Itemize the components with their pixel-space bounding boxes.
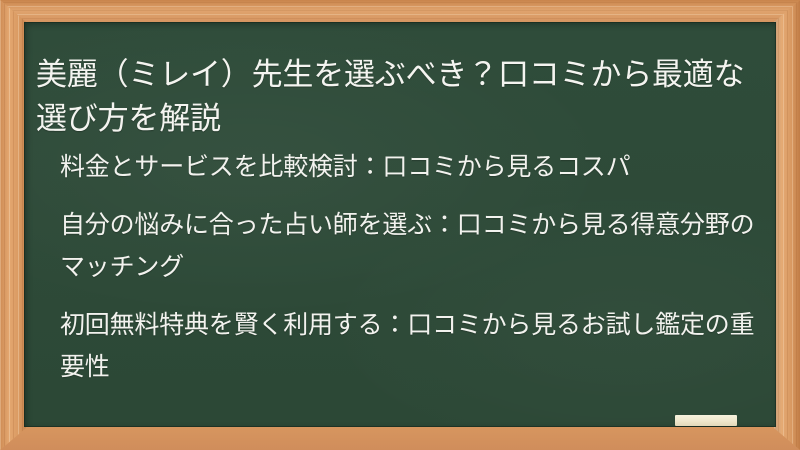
list-item: 自分の悩みに合った占い師を選ぶ：口コミから見る得意分野のマッチング bbox=[60, 204, 760, 288]
topic-list: 料金とサービスを比較検討：口コミから見るコスパ 自分の悩みに合った占い師を選ぶ：… bbox=[60, 146, 760, 388]
list-item: 料金とサービスを比較検討：口コミから見るコスパ bbox=[60, 146, 760, 188]
chalkboard-card: 美麗（ミレイ）先生を選ぶべき？口コミから最適な選び方を解説 料金とサービスを比較… bbox=[0, 0, 800, 450]
page-title: 美麗（ミレイ）先生を選ぶべき？口コミから最適な選び方を解説 bbox=[36, 53, 752, 141]
frame-rail-top bbox=[0, 0, 800, 23]
chalkboard-surface: 美麗（ミレイ）先生を選ぶべき？口コミから最適な選び方を解説 料金とサービスを比較… bbox=[24, 22, 776, 427]
list-item: 初回無料特典を賢く利用する：口コミから見るお試し鑑定の重要性 bbox=[60, 304, 760, 388]
frame-rail-bottom bbox=[0, 426, 800, 450]
chalk-stick-icon bbox=[675, 415, 737, 426]
frame-rail-right bbox=[774, 0, 800, 450]
frame-rail-left bbox=[0, 0, 26, 450]
